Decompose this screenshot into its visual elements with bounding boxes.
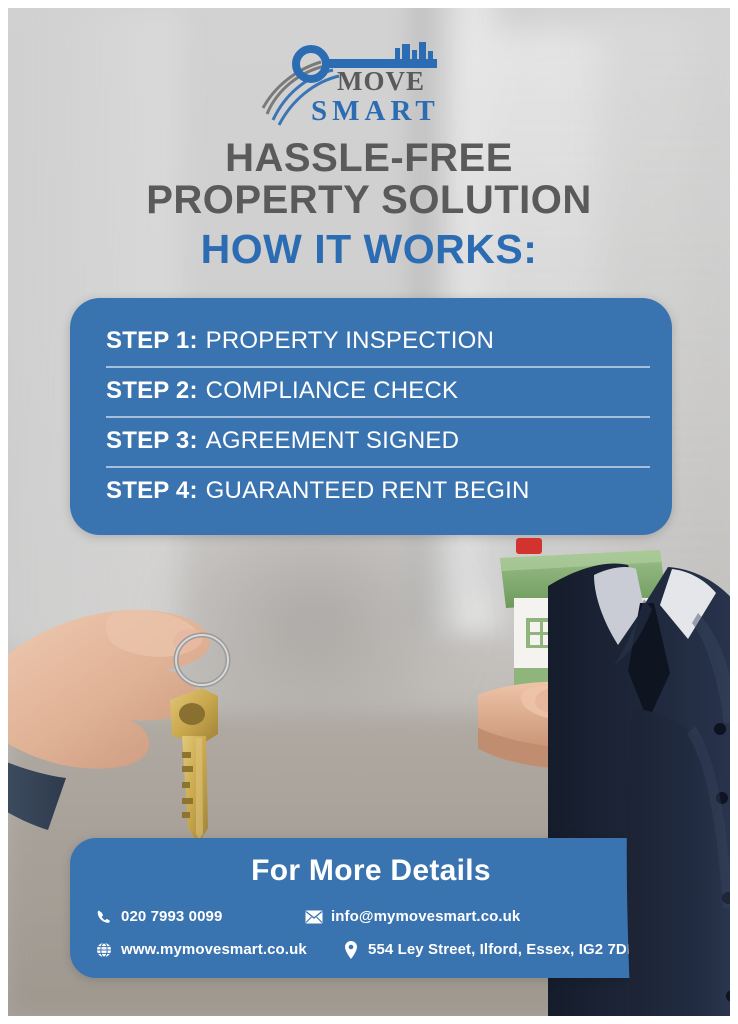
contact-phone[interactable]: 020 7993 0099 <box>94 907 304 927</box>
step-divider <box>106 466 650 468</box>
step-label: STEP 3: <box>106 427 198 455</box>
step-row: STEP 3: AGREEMENT SIGNED <box>70 416 672 466</box>
contact-row-2: www.mymovesmart.co.uk 554 Ley Street, Il… <box>94 933 660 966</box>
step-text: COMPLIANCE CHECK <box>206 377 459 405</box>
page-title: HASSLE-FREE PROPERTY SOLUTION HOW IT WOR… <box>8 138 730 271</box>
contact-details: 020 7993 0099 info@mymovesmart.co.uk www… <box>94 900 660 966</box>
step-row: STEP 4: GUARANTEED RENT BEGIN <box>70 466 672 516</box>
brand-logo: MOVE SMART <box>8 42 730 132</box>
contact-panel: For More Details 020 7993 0099 info@mymo… <box>70 838 672 978</box>
step-divider <box>106 416 650 418</box>
steps-panel: STEP 1: PROPERTY INSPECTION STEP 2: COMP… <box>70 298 672 535</box>
headline-line-2: PROPERTY SOLUTION <box>8 180 730 222</box>
phone-icon <box>94 907 114 927</box>
logo-word-move: MOVE <box>337 66 425 96</box>
globe-icon <box>94 940 114 960</box>
hand-holding-key-photo <box>8 548 296 878</box>
person-suit-foreground <box>625 708 730 1016</box>
step-row: STEP 2: COMPLIANCE CHECK <box>70 366 672 416</box>
headline-line-3: HOW IT WORKS: <box>8 228 730 271</box>
step-text: AGREEMENT SIGNED <box>206 427 459 455</box>
step-text: GUARANTEED RENT BEGIN <box>206 477 530 505</box>
poster: MOVE SMART HASSLE-FREE PROPERTY SOLUTION… <box>8 8 730 1016</box>
contact-website[interactable]: www.mymovesmart.co.uk <box>94 940 341 960</box>
contact-website-text: www.mymovesmart.co.uk <box>121 941 307 958</box>
location-pin-icon <box>341 940 361 960</box>
headline-line-1: HASSLE-FREE <box>8 138 730 180</box>
contact-address-text: 554 Ley Street, Ilford, Essex, IG2 7DB <box>368 941 638 958</box>
logo-word-smart: SMART <box>311 95 440 127</box>
contact-row-1: 020 7993 0099 info@mymovesmart.co.uk <box>94 900 660 933</box>
step-label: STEP 1: <box>106 327 198 355</box>
contact-email[interactable]: info@mymovesmart.co.uk <box>304 907 520 927</box>
envelope-icon <box>304 907 324 927</box>
step-divider <box>106 366 650 368</box>
contact-phone-text: 020 7993 0099 <box>121 908 222 925</box>
contact-address[interactable]: 554 Ley Street, Ilford, Essex, IG2 7DB <box>341 940 638 960</box>
step-text: PROPERTY INSPECTION <box>206 327 494 355</box>
contact-email-text: info@mymovesmart.co.uk <box>331 908 520 925</box>
key-skyline-logo-icon: MOVE SMART <box>259 42 479 132</box>
contact-panel-title: For More Details <box>70 854 672 888</box>
step-label: STEP 4: <box>106 477 198 505</box>
step-row: STEP 1: PROPERTY INSPECTION <box>70 316 672 366</box>
step-label: STEP 2: <box>106 377 198 405</box>
